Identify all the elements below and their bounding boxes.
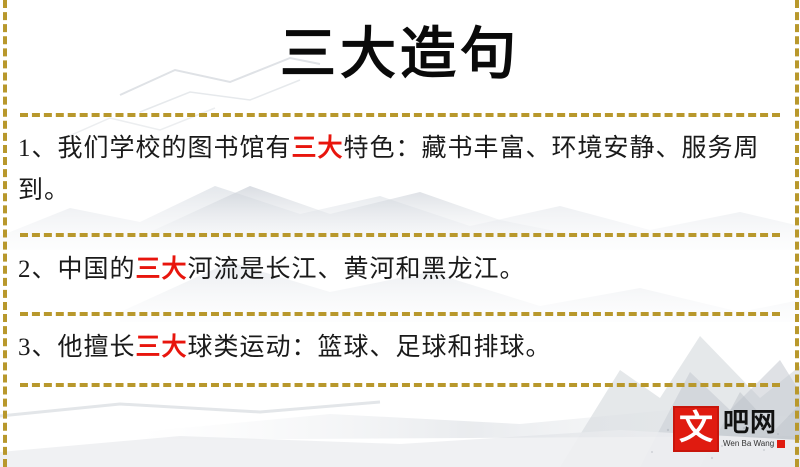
sentence-1-text-before: 我们学校的图书馆有 [58,135,292,162]
separator-2 [20,233,780,237]
separator-4 [20,383,780,387]
page-title: 三大造句 [0,14,800,96]
sentence-3-text-after: 球类运动：篮球、足球和排球。 [188,334,552,361]
sentence-item-1: 1、我们学校的图书馆有三大特色：藏书丰富、环境安静、服务周到。 [18,128,780,212]
logo-pinyin: Wen Ba Wang [723,439,774,449]
sentence-2-text-after: 河流是长江、黄河和黑龙江。 [188,256,526,283]
logo-name-cn: 吧网 [723,408,791,438]
sentence-1-highlight: 三大 [292,135,344,162]
document-page: 三大造句 1、我们学校的图书馆有三大特色：藏书丰富、环境安静、服务周到。 2、中… [0,0,800,467]
sentence-2-highlight: 三大 [136,256,188,283]
sentence-3-number: 3、 [18,334,58,361]
logo-text-group: 吧网 Wen Ba Wang [723,408,791,449]
sentence-item-3: 3、他擅长三大球类运动：篮球、足球和排球。 [18,327,780,369]
logo-seal-icon: 文 [673,406,719,452]
logo-red-square-icon [777,440,785,448]
sentence-1-number: 1、 [18,135,58,162]
sentence-2-number: 2、 [18,256,58,283]
sentence-3-highlight: 三大 [136,334,188,361]
separator-3 [20,312,780,316]
sentence-2-text-before: 中国的 [58,256,136,283]
sentence-3-text-before: 他擅长 [58,334,136,361]
logo-pinyin-row: Wen Ba Wang [723,439,791,449]
separator-1 [20,113,780,117]
sentence-item-2: 2、中国的三大河流是长江、黄河和黑龙江。 [18,249,780,291]
site-logo[interactable]: 文 吧网 Wen Ba Wang [673,406,791,456]
